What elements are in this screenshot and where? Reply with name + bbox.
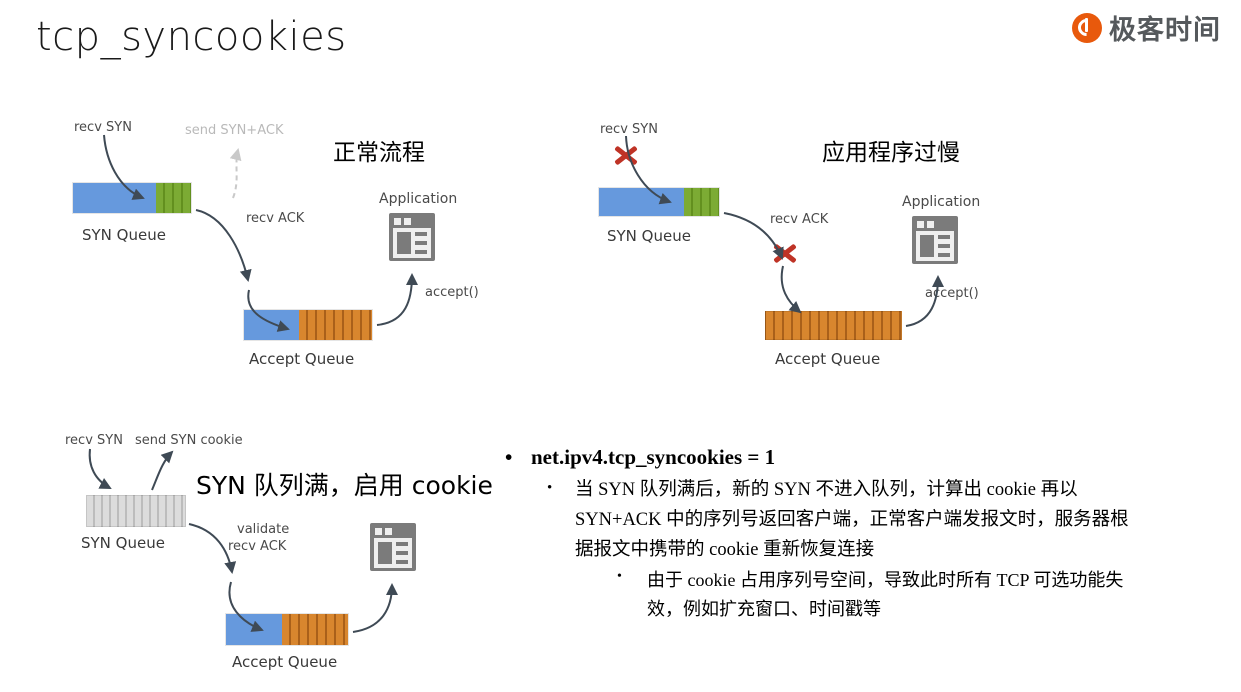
diagram-normal-flow-title: 正常流程	[333, 133, 425, 167]
bullet-level2: • 当 SYN 队列满后，新的 SYN 不进入队列，计算出 cookie 再以 …	[505, 476, 1145, 566]
bullet-list: • net.ipv4.tcp_syncookies = 1 • 当 SYN 队列…	[505, 443, 1145, 625]
app-icon-body	[393, 228, 431, 258]
brand-name: 极客时间	[1109, 8, 1221, 47]
diagram-syncookie-flow: SYN 队列满，启用 cookie recv SYN send SYN cook…	[0, 400, 520, 692]
syn-queue-used	[156, 183, 191, 213]
blocked-ack-x-icon	[772, 240, 798, 266]
app-icon-titlebar	[375, 528, 411, 535]
annotation-send-syn-cookie: send SYN cookie	[135, 433, 243, 449]
app-icon-body	[374, 538, 412, 568]
accept-queue-used	[282, 614, 348, 645]
accept-queue-free	[244, 310, 299, 340]
accept-queue-label: Accept Queue	[775, 350, 880, 368]
diagram-slow-application: 应用程序过慢 recv SYN recv ACK accept() Applic…	[520, 0, 1080, 400]
annotation-recv-syn: recv SYN	[65, 433, 123, 449]
syn-queue-used	[684, 188, 719, 216]
accept-queue-bar	[243, 309, 373, 341]
annotation-validate-recv-ack-line1: validate	[237, 522, 289, 538]
app-icon-block	[397, 232, 411, 254]
annotation-send-syn-ack: send SYN+ACK	[185, 123, 283, 139]
app-icon-block	[378, 542, 392, 564]
bullet-marker: •	[547, 476, 575, 566]
accept-queue-used	[299, 310, 372, 340]
accept-queue-bar	[225, 613, 349, 646]
annotation-recv-syn: recv SYN	[600, 122, 658, 138]
annotation-accept: accept()	[425, 285, 479, 301]
app-icon-lines	[396, 542, 408, 564]
bullet-marker: •	[617, 566, 647, 624]
syn-queue-bar	[72, 182, 192, 214]
annotation-application: Application	[902, 194, 980, 212]
annotation-accept: accept()	[925, 286, 979, 302]
annotation-recv-ack: recv ACK	[246, 211, 304, 227]
bullet-marker: •	[505, 443, 531, 472]
app-icon-titlebar	[917, 221, 953, 228]
syn-queue-label: SYN Queue	[82, 226, 166, 244]
syn-queue-free	[599, 188, 684, 216]
syn-queue-label: SYN Queue	[81, 534, 165, 552]
syn-queue-bar	[598, 187, 720, 217]
app-icon-body	[916, 231, 954, 261]
application-icon	[370, 523, 416, 571]
blocked-syn-x-icon	[613, 142, 639, 168]
app-icon-titlebar	[394, 218, 430, 225]
bullet-level1: • net.ipv4.tcp_syncookies = 1	[505, 443, 1145, 472]
bullet-level2-text: 当 SYN 队列满后，新的 SYN 不进入队列，计算出 cookie 再以 SY…	[575, 476, 1145, 566]
application-icon	[389, 213, 435, 261]
application-icon	[912, 216, 958, 264]
brand-logo: 极客时间	[1072, 8, 1221, 47]
bullet-level3-text: 由于 cookie 占用序列号空间，导致此时所有 TCP 可选功能失效，例如扩充…	[647, 566, 1145, 624]
app-icon-lines	[938, 235, 950, 257]
diagram-slow-application-title: 应用程序过慢	[822, 133, 960, 167]
bullet-level3: • 由于 cookie 占用序列号空间，导致此时所有 TCP 可选功能失效，例如…	[505, 566, 1145, 624]
accept-queue-label: Accept Queue	[249, 350, 354, 368]
bullet-level1-text: net.ipv4.tcp_syncookies = 1	[531, 443, 1145, 472]
app-icon-lines	[415, 232, 427, 254]
syn-queue-label: SYN Queue	[607, 227, 691, 245]
annotation-validate-recv-ack-line2: recv ACK	[228, 539, 286, 555]
accept-queue-free	[226, 614, 282, 645]
app-icon-block	[920, 235, 934, 257]
accept-queue-bar	[765, 311, 902, 340]
syn-queue-free	[73, 183, 156, 213]
annotation-recv-syn: recv SYN	[74, 120, 132, 136]
diagram-normal-flow: 正常流程 recv SYN send SYN+ACK recv ACK acce…	[0, 0, 520, 400]
annotation-application: Application	[379, 191, 457, 209]
annotation-recv-ack: recv ACK	[770, 212, 828, 228]
diagram-syncookie-flow-title: SYN 队列满，启用 cookie	[196, 466, 493, 502]
accept-queue-label: Accept Queue	[232, 653, 337, 671]
syn-queue-bar	[86, 495, 186, 527]
